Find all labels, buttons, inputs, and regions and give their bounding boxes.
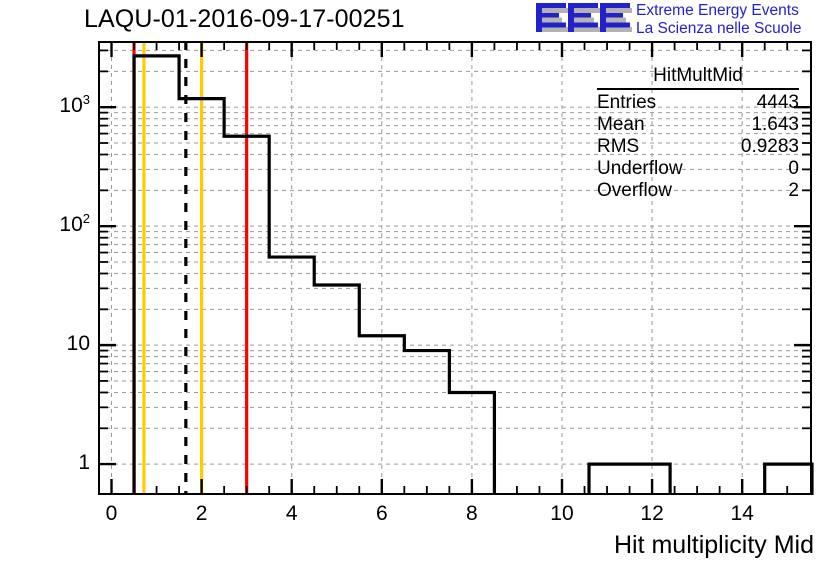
stats-key: RMS (597, 136, 639, 158)
x-axis-tick-label: 4 (272, 503, 312, 524)
stats-box: HitMultMid Entries4443Mean1.643RMS0.9283… (589, 64, 807, 204)
x-axis-tick-label: 6 (362, 503, 402, 524)
stats-value: 4443 (757, 92, 799, 114)
stats-key: Mean (597, 114, 645, 136)
stats-value: 1.643 (751, 114, 799, 136)
eee-logo-line2: La Scienza nelle Scuole (636, 20, 836, 38)
stats-value: 0 (788, 158, 799, 180)
stats-row: Mean1.643 (589, 114, 807, 136)
x-axis-tick-label: 2 (182, 503, 222, 524)
stats-title: HitMultMid (597, 64, 799, 90)
y-axis-tick-label: 103 (59, 95, 90, 116)
y-axis-tick-label: 102 (59, 214, 90, 235)
y-axis-tick-label: 10 (67, 333, 90, 354)
root-canvas: LAQU-01-2016-09-17-00251 (0, 0, 836, 572)
stats-row: RMS0.9283 (589, 136, 807, 158)
x-axis-tick-label: 14 (722, 503, 762, 524)
eee-logo-line1: Extreme Energy Events (636, 2, 836, 20)
stats-row: Underflow0 (589, 158, 807, 180)
x-axis-tick-label: 0 (92, 503, 132, 524)
stats-row: Overflow2 (589, 180, 807, 202)
stats-value: 0.9283 (741, 136, 799, 158)
stats-rows: Entries4443Mean1.643RMS0.9283Underflow0O… (589, 92, 807, 202)
stats-value: 2 (788, 180, 799, 202)
stats-key: Underflow (597, 158, 683, 180)
stats-key: Overflow (597, 180, 672, 202)
x-axis-title: Hit multiplicity Mid (614, 530, 814, 560)
y-axis-tick-label: 1 (78, 452, 90, 473)
x-axis-tick-label: 8 (452, 503, 492, 524)
page-title: LAQU-01-2016-09-17-00251 (84, 4, 405, 34)
eee-logo-text: Extreme Energy Events La Scienza nelle S… (636, 2, 836, 38)
x-axis-tick-label: 12 (632, 503, 672, 524)
eee-logo: Extreme Energy Events La Scienza nelle S… (536, 2, 834, 38)
eee-logo-mark (536, 3, 632, 36)
stats-row: Entries4443 (589, 92, 807, 114)
stats-key: Entries (597, 92, 656, 114)
x-axis-tick-label: 10 (542, 503, 582, 524)
